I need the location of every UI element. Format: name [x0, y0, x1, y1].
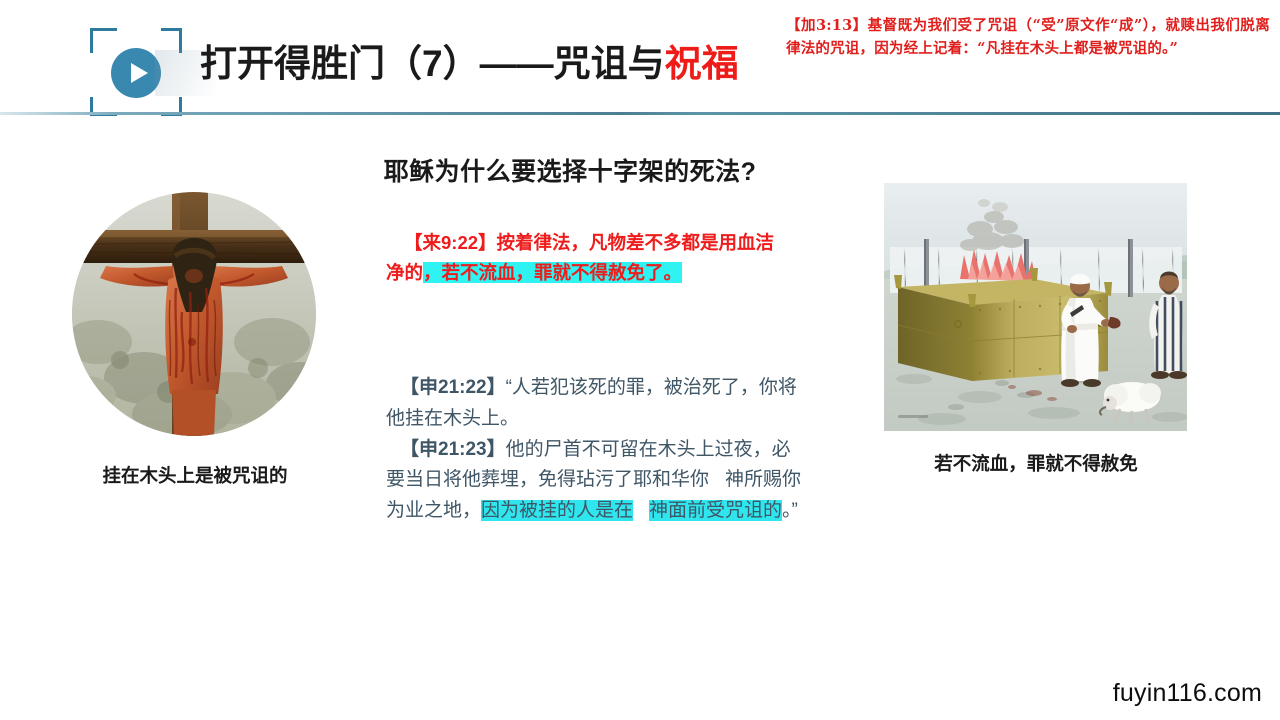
deut-23-text-c: 。”	[782, 500, 798, 521]
altar-artwork	[884, 183, 1187, 431]
right-image-caption: 若不流血，罪就不得赦免	[880, 450, 1192, 476]
header-divider	[0, 112, 1280, 115]
crucifixion-artwork	[72, 192, 316, 436]
site-watermark: fuyin116.com	[1113, 679, 1262, 708]
deut-22-reference: 【申21:22】	[400, 377, 506, 398]
hebrews-highlighted-text: ，若不流血，罪就不得赦免了。	[423, 262, 682, 283]
deut-23-reference: 【申21:23】	[400, 439, 506, 460]
hebrews-scripture: 【来9:22】按着律法，凡物差不多都是用血洁净的，若不流血，罪就不得赦免了。	[386, 228, 778, 288]
page-title-accent: 祝福	[665, 43, 739, 84]
deut-23-highlight-a: 因为被挂的人是在	[481, 500, 633, 521]
crucifixion-figure	[72, 192, 316, 436]
play-triangle-icon	[131, 63, 148, 83]
page-title: 打开得胜门（7）——咒诅与祝福	[200, 44, 739, 85]
page-title-main: 打开得胜门（7）——咒诅与	[200, 43, 665, 84]
left-image-caption: 挂在木头上是被咒诅的	[40, 462, 350, 488]
deut-23-highlight-b: 神面前受咒诅的	[649, 500, 782, 521]
deut-verse-23: 【申21:23】他的尸首不可留在木头上过夜，必要当日将他葬埋，免得玷污了耶和华你…	[386, 435, 806, 527]
altar-sacrifice-illustration	[884, 183, 1187, 431]
crucifixion-photo	[72, 192, 316, 436]
frame-notch-top	[117, 28, 161, 31]
play-circle-icon	[111, 48, 161, 98]
deut-verse-22: 【申21:22】“人若犯该死的罪，被治死了，你将他挂在木头上。	[386, 373, 806, 435]
galatians-scripture: 【加3:13】基督既为我们受了咒诅（“受”原文作“成”），就赎出我们脱离律法的咒…	[786, 14, 1270, 61]
deuteronomy-scripture: 【申21:22】“人若犯该死的罪，被治死了，你将他挂在木头上。 【申21:23】…	[386, 373, 806, 527]
